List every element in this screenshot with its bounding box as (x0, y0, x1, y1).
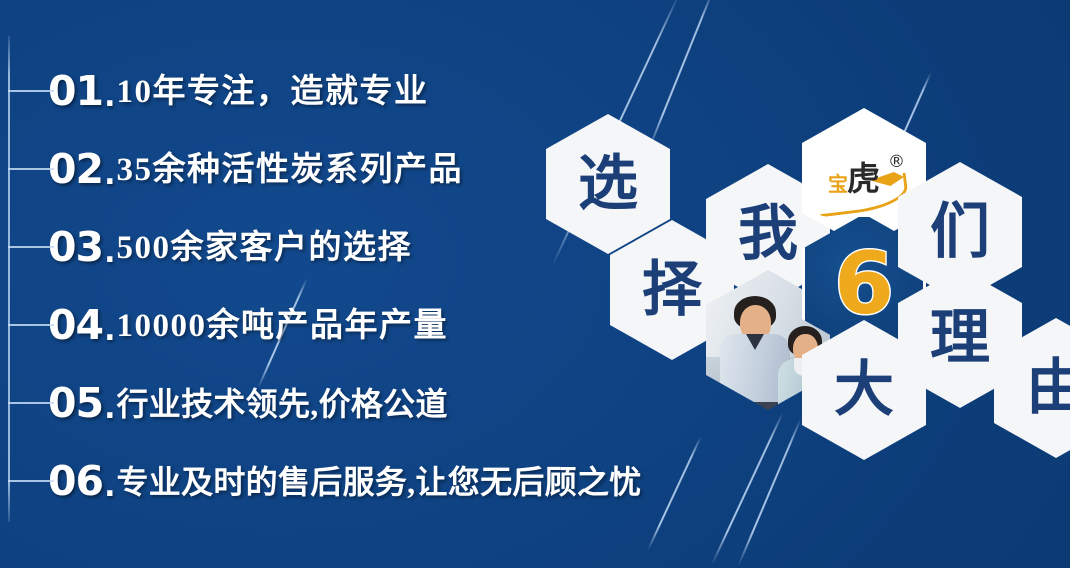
advantage-number: 06 (48, 461, 103, 502)
logo-char-hu: 虎 (847, 162, 880, 195)
advantage-number: 02 (48, 149, 103, 190)
logo-mark: 宝 虎 ® (814, 148, 914, 204)
advantages-banner: 01 . 10年专注，造就专业 02 . 35余种活性炭系列产品 03 . 50… (0, 0, 1070, 568)
advantage-text: 500余家客户的选择 (116, 232, 412, 265)
advantage-number: 03 (48, 227, 103, 268)
hex-glyph-count: 6 (834, 241, 894, 327)
hex-glyph: 择 (642, 260, 702, 320)
advantage-separator: . (103, 160, 116, 190)
advantage-number: 01 (48, 71, 103, 112)
advantage-text: 行业技术领先,价格公道 (116, 388, 447, 420)
tick-mark (8, 480, 54, 482)
advantage-text: 10000余吨产品年产量 (116, 310, 448, 343)
registered-trademark-icon: ® (888, 152, 905, 172)
advantage-separator: . (103, 394, 116, 424)
advantage-number: 04 (48, 305, 103, 346)
hex-glyph: 选 (578, 154, 638, 214)
tick-mark (8, 168, 54, 170)
hex-glyph: 大 (834, 360, 894, 420)
advantage-separator: . (103, 82, 116, 112)
hexagon-honeycomb: 选择我们6大理由 选 择 我 (520, 96, 1070, 456)
advantage-separator: . (103, 238, 116, 268)
tick-mark (8, 402, 54, 404)
advantage-text: 35余种活性炭系列产品 (116, 154, 463, 187)
hex-glyph: 们 (930, 202, 990, 262)
advantage-separator: . (103, 316, 116, 346)
tick-mark (8, 324, 54, 326)
tick-mark (8, 246, 54, 248)
tick-mark (8, 90, 54, 92)
advantage-text: 10年专注，造就专业 (116, 76, 428, 109)
advantage-separator: . (103, 472, 116, 502)
logo-char-bao: 宝 (828, 174, 848, 194)
advantage-number: 05 (48, 383, 103, 424)
advantage-text: 专业及时的售后服务,让您无后顾之忧 (116, 466, 641, 498)
hive-headline: 选择我们6大理由 (520, 96, 521, 97)
hex-glyph: 理 (930, 308, 990, 368)
hex-glyph: 我 (738, 204, 798, 264)
hex-glyph: 由 (1026, 358, 1070, 418)
